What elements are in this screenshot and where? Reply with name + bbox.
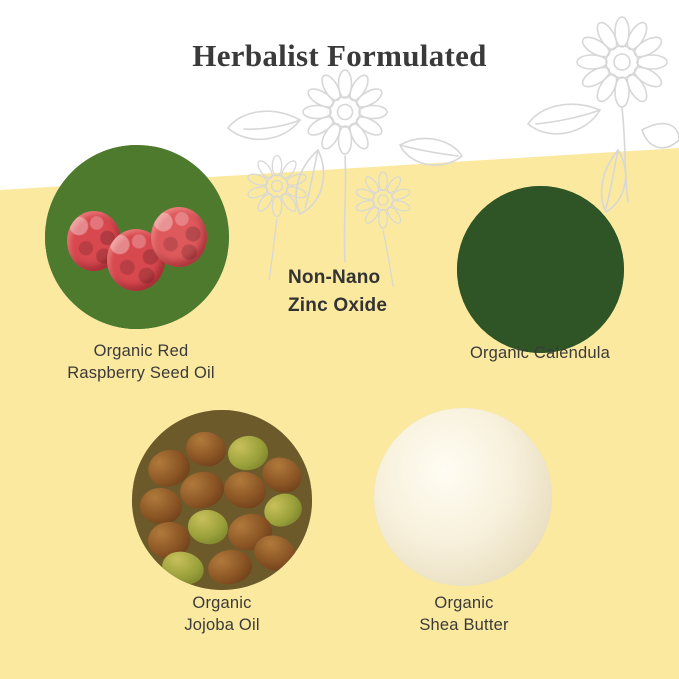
ingredient-photo-raspberry <box>45 145 229 329</box>
ingredient-label-jojoba: Organic Jojoba Oil <box>110 592 334 637</box>
label-line-2: Shea Butter <box>419 616 508 634</box>
ingredient-photo-jojoba <box>132 410 312 590</box>
label-line-2: Jojoba Oil <box>184 616 259 634</box>
label-line-1: Organic Red <box>94 342 189 360</box>
center-callout: Non-Nano Zinc Oxide <box>288 264 448 319</box>
product-ingredient-infographic: Herbalist Formulated <box>0 0 679 679</box>
ingredient-label-shea-butter: Organic Shea Butter <box>352 592 576 637</box>
ingredient-label-raspberry: Organic Red Raspberry Seed Oil <box>0 340 282 385</box>
page-title: Herbalist Formulated <box>0 38 679 74</box>
ingredient-label-calendula: Organic Calendula <box>404 342 676 364</box>
label-line-1: Organic <box>434 594 493 612</box>
label-line-1: Organic <box>192 594 251 612</box>
callout-line-2: Zinc Oxide <box>288 295 387 316</box>
berry <box>151 207 207 267</box>
ingredient-photo-shea-butter <box>374 408 552 586</box>
callout-line-1: Non-Nano <box>288 267 380 288</box>
ingredient-photo-calendula <box>457 186 624 353</box>
label-line-2: Raspberry Seed Oil <box>67 364 215 382</box>
label-line-1: Organic Calendula <box>470 344 610 362</box>
